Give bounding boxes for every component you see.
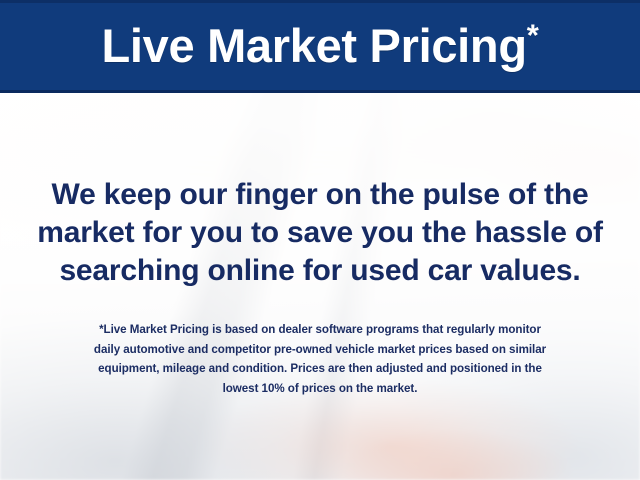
headline-line-1: We keep our finger on the pulse of the <box>0 176 640 214</box>
live-market-pricing-banner: Live Market Pricing* We keep our finger … <box>0 0 640 480</box>
fineprint-line-4: lowest 10% of prices on the market. <box>30 379 610 399</box>
header-band: Live Market Pricing* <box>0 0 640 93</box>
headline-copy: We keep our finger on the pulse of the m… <box>0 176 640 290</box>
headline-line-2: market for you to save you the hassle of <box>0 214 640 252</box>
headline-line-3: searching online for used car values. <box>0 252 640 290</box>
page-title: Live Market Pricing* <box>101 22 538 72</box>
page-title-text: Live Market Pricing <box>101 19 526 72</box>
fineprint-line-3: equipment, mileage and condition. Prices… <box>30 359 610 379</box>
page-title-asterisk: * <box>527 17 539 52</box>
fineprint-disclaimer: *Live Market Pricing is based on dealer … <box>30 320 610 398</box>
fineprint-line-1: *Live Market Pricing is based on dealer … <box>30 320 610 340</box>
fineprint-line-2: daily automotive and competitor pre-owne… <box>30 340 610 360</box>
